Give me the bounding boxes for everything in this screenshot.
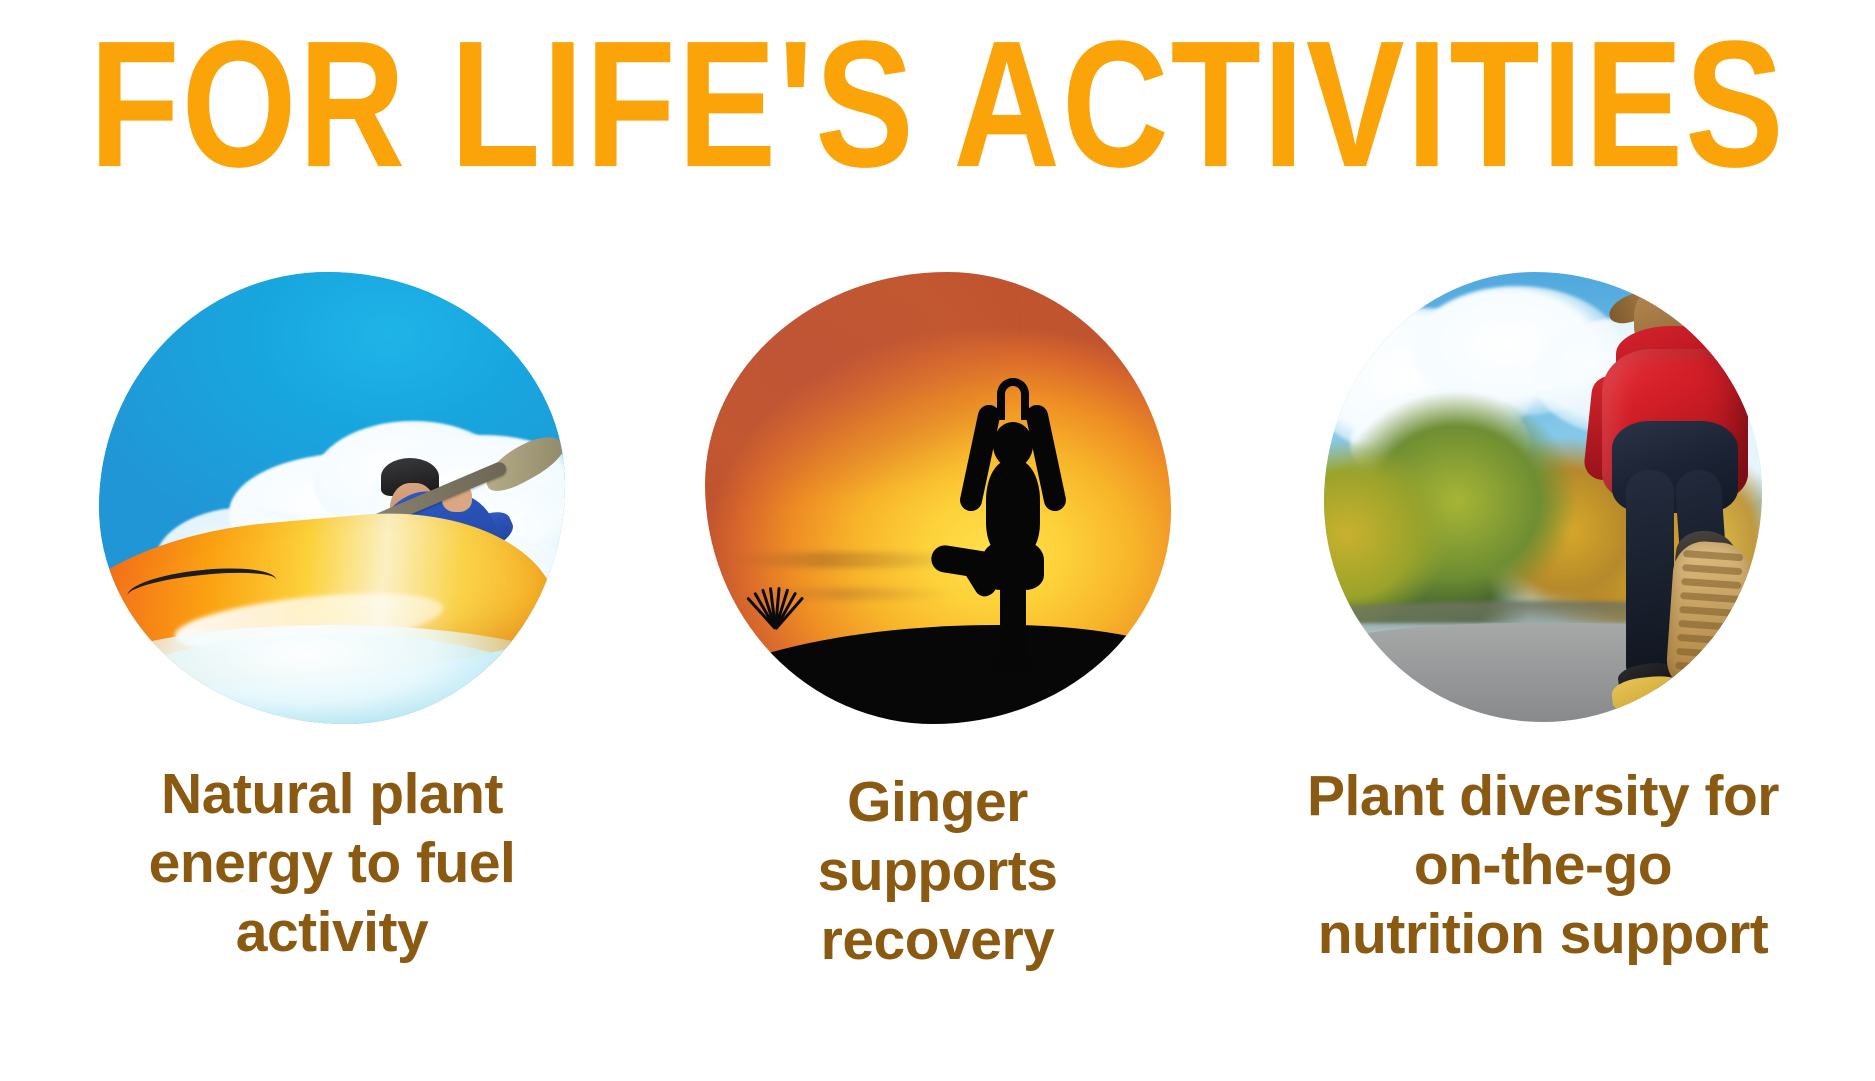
grass-tuft xyxy=(746,583,806,629)
shoe-tread-pattern xyxy=(1675,550,1744,678)
kayaker-whitewater-photo xyxy=(99,272,565,724)
benefit-caption-kayaking: Natural plant energy to fuel activity xyxy=(149,760,516,967)
benefit-column-running: Plant diversity for on-the-go nutrition … xyxy=(1255,272,1831,1072)
benefit-caption-yoga: Ginger supports recovery xyxy=(818,768,1058,975)
benefit-columns: Natural plant energy to fuel activity xyxy=(0,272,1875,1072)
yogi-foot xyxy=(993,658,1035,670)
runner-scene xyxy=(1324,272,1762,722)
yoga-sunset-silhouette-photo xyxy=(705,272,1171,724)
marketing-poster: FOR LIFE'S ACTIVITIES xyxy=(0,0,1875,1081)
benefit-caption-running: Plant diversity for on-the-go nutrition … xyxy=(1307,762,1779,969)
yoga-tree-pose-silhouette xyxy=(938,374,1088,634)
water-spray xyxy=(99,625,565,724)
benefit-column-yoga: Ginger supports recovery xyxy=(650,272,1226,1072)
runner-autumn-road-photo xyxy=(1324,272,1762,722)
runner-figure xyxy=(1569,290,1762,722)
yoga-scene xyxy=(705,272,1171,724)
yogi-standing-leg xyxy=(1000,574,1026,666)
kayak-scene xyxy=(99,272,565,724)
page-title: FOR LIFE'S ACTIVITIES xyxy=(38,14,1838,194)
runner-shoe-sole xyxy=(1665,539,1753,692)
benefit-column-kayaking: Natural plant energy to fuel activity xyxy=(44,272,620,1072)
yogi-hands-overhead xyxy=(997,378,1029,420)
